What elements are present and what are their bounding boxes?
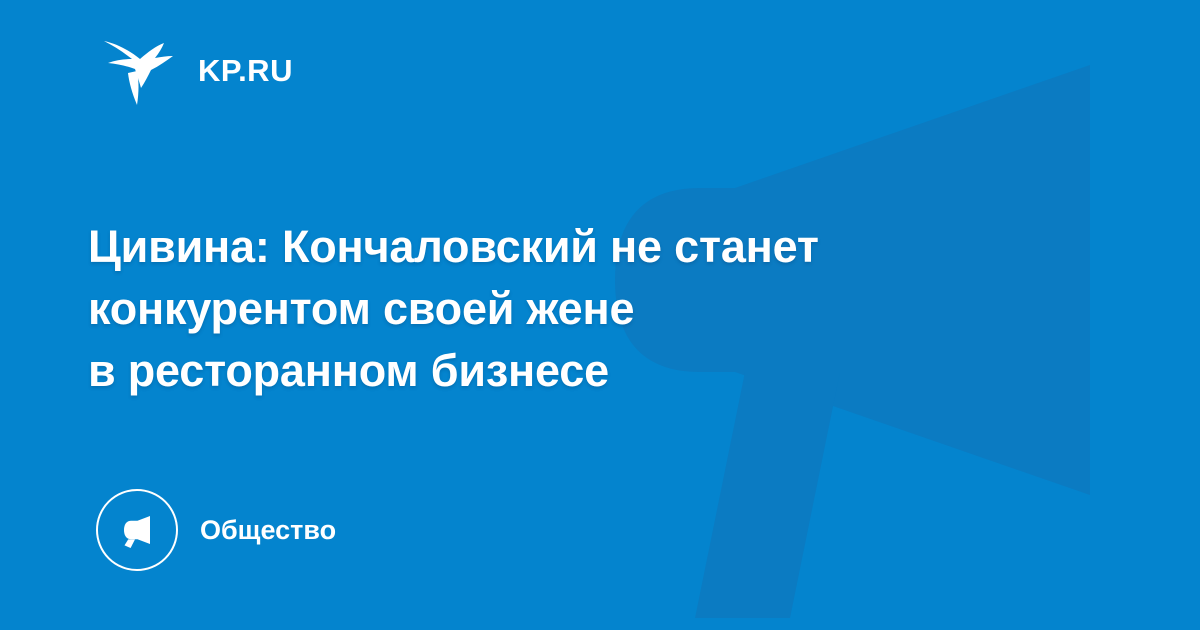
megaphone-icon	[117, 510, 157, 550]
social-share-card: KP.RU Цивина: Кончаловский не станет кон…	[0, 0, 1200, 630]
category-section[interactable]: Общество	[96, 488, 336, 572]
category-badge	[96, 489, 178, 571]
category-label: Общество	[200, 517, 336, 544]
swallow-bird-icon	[104, 35, 178, 105]
brand-logo[interactable]: KP.RU	[104, 34, 293, 106]
page-title: Цивина: Кончаловский не станет конкурент…	[88, 216, 1078, 402]
headline-line-3: в ресторанном бизнесе	[88, 340, 1078, 402]
headline-line-1: Цивина: Кончаловский не станет	[88, 216, 1078, 278]
brand-name: KP.RU	[198, 55, 293, 86]
headline-line-2: конкурентом своей жене	[88, 278, 1078, 340]
